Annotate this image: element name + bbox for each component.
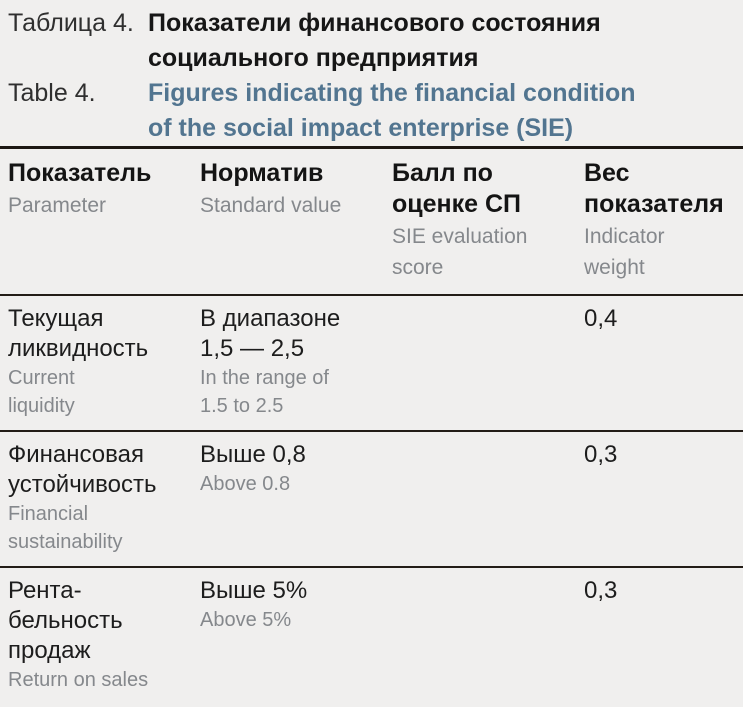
caption-line-en: Table 4. Figures indicating the financia… bbox=[0, 76, 743, 146]
cell-parameter-en-line1: Current bbox=[8, 365, 182, 392]
caption-line-ru: Таблица 4. Показатели финансового состоя… bbox=[0, 6, 743, 76]
table-row: Финансовая устойчивость Financial sustai… bbox=[0, 432, 743, 566]
caption-title-ru: Показатели финансового состояния социаль… bbox=[148, 6, 743, 76]
column-header-parameter-en: Parameter bbox=[8, 191, 182, 220]
cell-parameter: Рента- бельность продаж Return on sales bbox=[0, 568, 192, 704]
caption-title-en-line2: of the social impact enterprise (SIE) bbox=[148, 111, 743, 146]
column-header-indicator-weight-ru-line1: Вес bbox=[584, 158, 733, 189]
cell-parameter-ru-line2: бельность bbox=[8, 606, 182, 636]
column-header-indicator-weight-en-line1: Indicator bbox=[584, 222, 733, 251]
column-header-sie-score-ru-line2: оценке СП bbox=[392, 189, 566, 220]
table-body-row-2: Финансовая устойчивость Financial sustai… bbox=[0, 432, 743, 566]
caption-label-en: Table 4. bbox=[0, 76, 148, 111]
column-header-indicator-weight-ru-line2: показателя bbox=[584, 189, 733, 220]
cell-parameter-en-line1: Financial bbox=[8, 501, 182, 528]
column-header-sie-score-ru-line1: Балл по bbox=[392, 158, 566, 189]
cell-sie-score bbox=[384, 568, 576, 704]
cell-standard-value-ru-line1: В диапазоне bbox=[200, 304, 374, 334]
table-body-row-3: Рента- бельность продаж Return on sales … bbox=[0, 568, 743, 704]
cell-standard-value-ru-line1: Выше 5% bbox=[200, 576, 374, 606]
table-caption: Таблица 4. Показатели финансового состоя… bbox=[0, 0, 743, 146]
table-row: Рента- бельность продаж Return on sales … bbox=[0, 568, 743, 704]
cell-sie-score bbox=[384, 296, 576, 430]
cell-standard-value-en-line1: In the range of bbox=[200, 365, 374, 392]
column-header-parameter-ru: Показатель bbox=[8, 158, 182, 189]
cell-parameter: Финансовая устойчивость Financial sustai… bbox=[0, 432, 192, 566]
cell-parameter-ru-line3: продаж bbox=[8, 636, 182, 666]
column-header-parameter: Показатель Parameter bbox=[0, 149, 192, 294]
cell-parameter-en-line1: Return on sales bbox=[8, 667, 182, 694]
caption-title-en-line1: Figures indicating the financial conditi… bbox=[148, 79, 636, 107]
table-row: Текущая ликвидность Current liquidity В … bbox=[0, 296, 743, 430]
cell-parameter-ru-line1: Рента- bbox=[8, 576, 182, 606]
cell-standard-value: Выше 0,8 Above 0.8 bbox=[192, 432, 384, 566]
caption-label-ru: Таблица 4. bbox=[0, 6, 148, 41]
column-header-standard-value: Норматив Standard value bbox=[192, 149, 384, 294]
table-header-row: Показатель Parameter Норматив Standard v… bbox=[0, 149, 743, 294]
cell-standard-value-ru-line1: Выше 0,8 bbox=[200, 440, 374, 470]
cell-indicator-weight: 0,4 bbox=[576, 296, 743, 430]
column-header-standard-value-en: Standard value bbox=[200, 191, 374, 220]
cell-indicator-weight: 0,3 bbox=[576, 568, 743, 704]
cell-parameter-ru-line2: устойчивость bbox=[8, 470, 182, 500]
cell-indicator-weight-value: 0,3 bbox=[584, 440, 733, 470]
cell-indicator-weight-value: 0,4 bbox=[584, 304, 733, 334]
cell-standard-value-en-line2: 1.5 to 2.5 bbox=[200, 393, 374, 420]
column-header-sie-score-en-line2: score bbox=[392, 253, 566, 282]
cell-parameter-ru-line2: ликвидность bbox=[8, 334, 182, 364]
cell-standard-value-en-line1: Above 0.8 bbox=[200, 471, 374, 498]
cell-standard-value: В диапазоне 1,5 — 2,5 In the range of 1.… bbox=[192, 296, 384, 430]
cell-standard-value-en-line1: Above 5% bbox=[200, 607, 374, 634]
cell-sie-score bbox=[384, 432, 576, 566]
column-header-sie-score: Балл по оценке СП SIE evaluation score bbox=[384, 149, 576, 294]
cell-parameter-ru-line1: Текущая bbox=[8, 304, 182, 334]
cell-indicator-weight-value: 0,3 bbox=[584, 576, 733, 606]
cell-standard-value-ru-line2: 1,5 — 2,5 bbox=[200, 334, 374, 364]
table-body-row-1: Текущая ликвидность Current liquidity В … bbox=[0, 296, 743, 430]
table-header: Показатель Parameter Норматив Standard v… bbox=[0, 149, 743, 294]
table-figure: Таблица 4. Показатели финансового состоя… bbox=[0, 0, 743, 707]
caption-title-ru-line1: Показатели финансового состояния bbox=[148, 9, 601, 37]
cell-parameter: Текущая ликвидность Current liquidity bbox=[0, 296, 192, 430]
column-header-indicator-weight: Вес показателя Indicator weight bbox=[576, 149, 743, 294]
column-header-indicator-weight-en-line2: weight bbox=[584, 253, 733, 282]
cell-indicator-weight: 0,3 bbox=[576, 432, 743, 566]
cell-parameter-en-line2: sustainability bbox=[8, 529, 182, 556]
cell-parameter-ru-line1: Финансовая bbox=[8, 440, 182, 470]
cell-standard-value: Выше 5% Above 5% bbox=[192, 568, 384, 704]
column-header-sie-score-en-line1: SIE evaluation bbox=[392, 222, 566, 251]
column-header-standard-value-ru: Норматив bbox=[200, 158, 374, 189]
caption-title-ru-line2: социального предприятия bbox=[148, 41, 743, 76]
cell-parameter-en-line2: liquidity bbox=[8, 393, 182, 420]
caption-title-en: Figures indicating the financial conditi… bbox=[148, 76, 743, 146]
